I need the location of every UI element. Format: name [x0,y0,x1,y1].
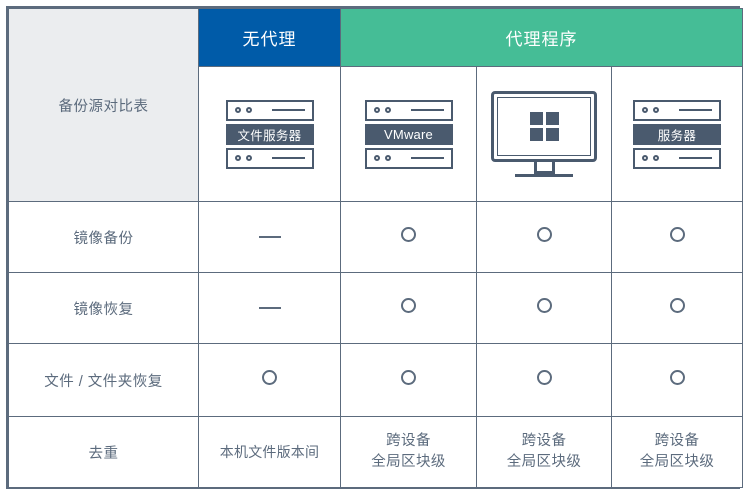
led-dot [246,155,252,161]
header-group-agent[interactable]: 代理程序 [341,9,743,67]
circle-supported-icon [401,298,416,313]
comparison-table-container: 备份源对比表 无代理 代理程序 文件服务器 [6,6,740,489]
server-unit-top [226,100,314,121]
led-dot [385,107,391,113]
cell-image-backup-windows [477,202,612,273]
row-label-image-restore: 镜像恢复 [9,273,199,344]
header-group-agentless[interactable]: 无代理 [199,9,341,67]
table-header-row: 备份源对比表 无代理 代理程序 [9,9,743,67]
monitor-bezel-inner [497,97,591,156]
cell-image-backup-vmware [341,202,477,273]
cell-source-server: 服务器 [612,67,743,202]
header-corner-and-row-label: 备份源对比表 [9,9,199,202]
led-dot [642,107,648,113]
server-name-badge: VMware [365,124,453,145]
cell-dedup-vmware: 跨设备 全局区块级 [341,417,477,488]
dedup-scope-text-line1: 跨设备 [477,431,611,452]
cell-dedup-server: 跨设备 全局区块级 [612,417,743,488]
dedup-scope-text-line2: 全局区块级 [612,452,742,473]
server-slot-line [411,157,444,159]
server-rack-icon: 服务器 [612,100,742,169]
table-row-image-backup: 镜像备份 [9,202,743,273]
dash-mark-icon [259,307,281,309]
desktop-monitor-windows-icon [491,91,597,177]
server-slot-line [272,157,305,159]
dedup-scope-text-line1: 跨设备 [612,431,742,452]
server-unit-bottom [365,148,453,169]
cell-source-file-server: 文件服务器 [199,67,341,202]
windows-logo-icon [530,112,559,141]
cell-file-restore-agentless [199,344,341,417]
server-rack-icon: 文件服务器 [199,100,340,169]
cell-image-backup-server [612,202,743,273]
row-label-file-folder-restore: 文件 / 文件夹恢复 [9,344,199,417]
circle-supported-icon [537,370,552,385]
led-dot [246,107,252,113]
table-row-image-restore: 镜像恢复 [9,273,743,344]
circle-supported-icon [537,298,552,313]
cell-image-restore-vmware [341,273,477,344]
cell-image-backup-agentless [199,202,341,273]
led-dot [374,155,380,161]
server-unit-top [633,100,721,121]
row-label-deduplication: 去重 [9,417,199,488]
circle-supported-icon [670,370,685,385]
cell-dedup-agentless: 本机文件版本间 [199,417,341,488]
server-slot-line [411,109,444,111]
circle-supported-icon [401,370,416,385]
monitor-stand-base [515,174,573,177]
circle-supported-icon [670,298,685,313]
table-row-file-folder-restore: 文件 / 文件夹恢复 [9,344,743,417]
row-label-backup-source: 备份源对比表 [59,99,149,115]
dedup-scope-text-line1: 跨设备 [341,431,476,452]
cell-image-restore-windows [477,273,612,344]
server-name-badge: 文件服务器 [226,124,314,145]
circle-supported-icon [262,370,277,385]
dash-mark-icon [259,236,281,238]
cell-file-restore-windows [477,344,612,417]
monitor-screen [491,91,597,162]
cell-dedup-windows: 跨设备 全局区块级 [477,417,612,488]
led-dot [235,155,241,161]
led-dot [653,107,659,113]
led-dot [385,155,391,161]
row-label-image-backup: 镜像备份 [9,202,199,273]
circle-supported-icon [401,227,416,242]
dedup-scope-text: 本机文件版本间 [199,442,340,462]
circle-supported-icon [537,227,552,242]
cell-image-restore-agentless [199,273,341,344]
server-slot-line [272,109,305,111]
cell-source-vmware: VMware [341,67,477,202]
led-dot [235,107,241,113]
server-rack-icon: VMware [341,100,476,169]
dedup-scope-text-line2: 全局区块级 [477,452,611,473]
table-row-deduplication: 去重 本机文件版本间 跨设备 全局区块级 跨设备 全局区块级 跨设备 全局区块级 [9,417,743,488]
server-name-badge: 服务器 [633,124,721,145]
led-dot [642,155,648,161]
dedup-scope-text-line2: 全局区块级 [341,452,476,473]
cell-file-restore-server [612,344,743,417]
server-slot-line [679,109,712,111]
led-dot [653,155,659,161]
server-unit-top [365,100,453,121]
cell-file-restore-vmware [341,344,477,417]
cell-image-restore-server [612,273,743,344]
circle-supported-icon [670,227,685,242]
led-dot [374,107,380,113]
backup-source-comparison-table: 备份源对比表 无代理 代理程序 文件服务器 [8,8,743,488]
server-slot-line [679,157,712,159]
monitor-stand-neck [534,162,555,174]
server-unit-bottom [633,148,721,169]
server-unit-bottom [226,148,314,169]
cell-source-windows-desktop [477,67,612,202]
